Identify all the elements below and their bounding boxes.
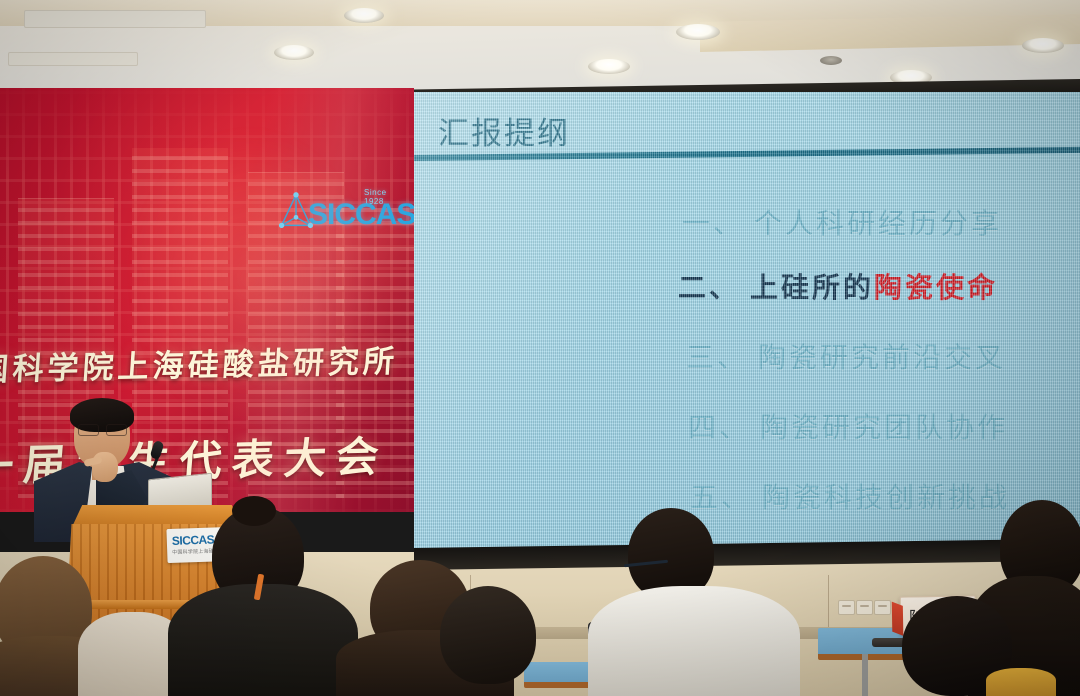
presentation-photo-scene: Since 1928 SICCAS 国科学院上海硅酸盐研究所 一届学生代表大会 … [0,0,1080,696]
speaker-glasses-icon [78,424,126,434]
outline-item-4-number: 四、 [688,411,750,444]
outline-item-3-label: 陶瓷研究前沿交叉 [758,341,1006,374]
wall-socket-1 [838,600,855,615]
ceiling-downlight-3 [676,24,720,40]
outline-item-2-number: 二、 [678,271,740,304]
outline-item-4: 四、陶瓷研究团队协作 [688,406,1008,446]
ceiling-downlight-2 [274,45,314,60]
ceiling-vent-left-2 [8,52,138,66]
outline-item-1-label: 个人科研经历分享 [754,207,1002,240]
audience-body-3 [168,584,358,696]
podium-top [72,505,242,527]
wall-panel-seam-3 [828,575,829,635]
banner-sheen [0,88,414,512]
audience-body-6 [588,586,800,696]
outline-item-4-label: 陶瓷研究团队协作 [760,411,1008,444]
ceiling-vent-left [24,10,206,28]
audience-head-5 [440,586,536,684]
wall-socket-3 [874,600,891,615]
outline-item-3-number: 三、 [686,341,748,374]
outline-item-2-label: 上硅所的 [750,271,874,304]
outline-item-3: 三、陶瓷研究前沿交叉 [686,336,1006,376]
podium-sign-logo: SICCAS [172,532,215,547]
outline-item-5: 五、陶瓷科技创新挑战 [690,476,1010,516]
outline-item-2-highlight: 陶瓷使命 [874,271,998,304]
panel-desk-left [524,662,594,688]
audience-body-9 [986,668,1056,696]
event-backdrop-banner: Since 1928 SICCAS 国科学院上海硅酸盐研究所 一届学生代表大会 [0,88,414,512]
panel-desk-leg [862,654,868,696]
nameplate-stand [892,602,904,636]
outline-item-1-number: 一、 [682,207,744,240]
outline-item-1: 一、个人科研经历分享 [682,202,1002,242]
ceiling-downlight-1 [344,8,384,23]
slide-title: 汇报提纲 [438,108,570,153]
outline-item-2: 二、上硅所的陶瓷使命 [678,266,998,306]
ceiling-downlight-off [820,56,842,65]
outline-item-5-label: 陶瓷科技创新挑战 [762,481,1010,514]
presentation-led-screen: 汇报提纲 一、个人科研经历分享 二、上硅所的陶瓷使命 三、陶瓷研究前沿交叉 四、… [414,92,1080,562]
wall-socket-2 [856,600,873,615]
audience-hair-bun-3 [232,496,276,526]
ceiling-downlight-4 [588,59,630,74]
outline-item-5-number: 五、 [690,481,752,514]
ceiling-downlight-5 [1022,38,1064,53]
